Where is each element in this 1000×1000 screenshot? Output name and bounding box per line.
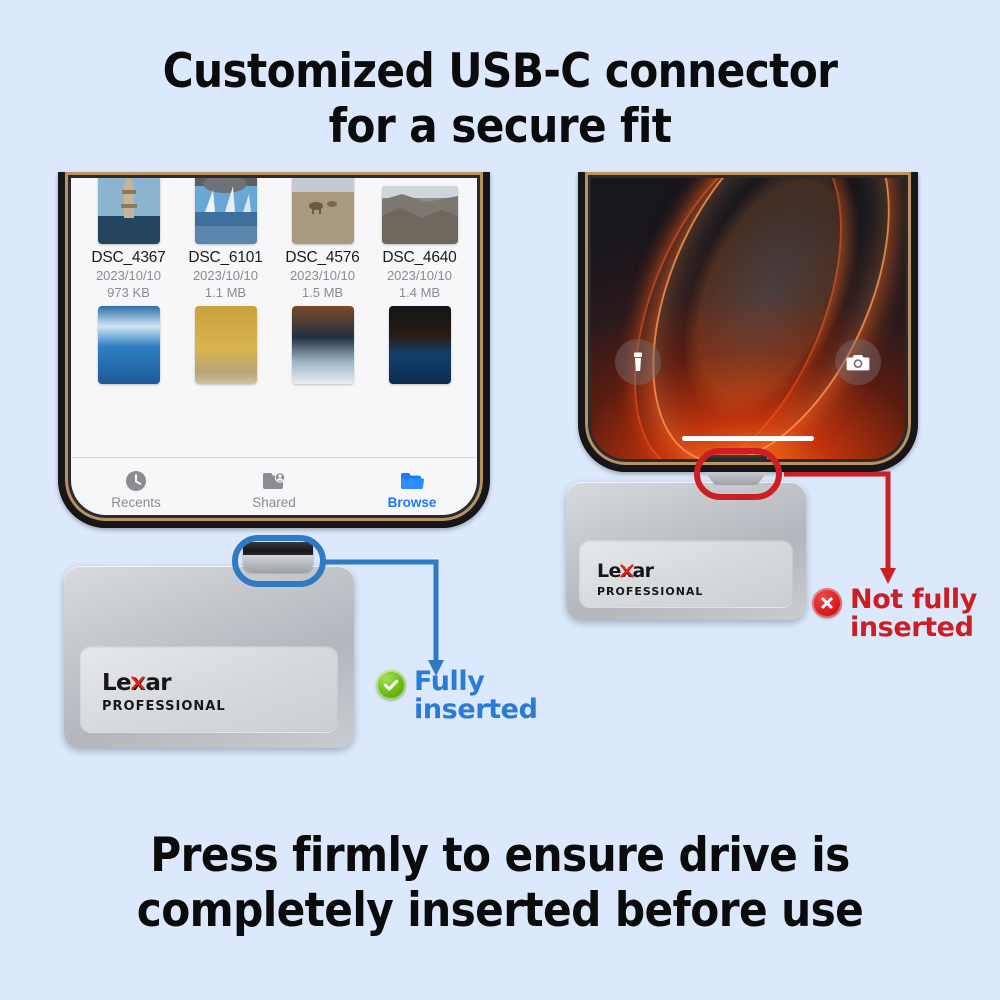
flashlight-icon [628, 351, 648, 373]
brand-name: Lexar [597, 562, 703, 581]
file-size: 1.5 MB [275, 284, 370, 301]
tab-shared[interactable]: Shared [205, 468, 343, 510]
tab-recents[interactable]: Recents [67, 468, 205, 510]
brand-name: Lexar [102, 672, 226, 695]
clock-icon [67, 468, 205, 494]
list-item[interactable]: DSC_4367 2023/10/10 973 KB [81, 172, 176, 302]
lexar-logo: Lexar PROFESSIONAL [102, 672, 226, 714]
callout-line-1: Not fully [850, 586, 977, 614]
file-size: 1.1 MB [178, 284, 273, 301]
thumb-art [98, 172, 160, 244]
thumb-art [195, 172, 257, 244]
file-name: DSC_4576 [275, 249, 370, 267]
callout-arrow-fully-inserted [318, 556, 458, 682]
camera-icon [846, 352, 870, 372]
tab-label: Recents [67, 495, 205, 510]
file-date: 2023/10/10 [81, 267, 176, 284]
headline-line-1: Customized USB-C connector [50, 44, 950, 99]
phone-right-screen [587, 172, 909, 463]
thumbnail-blue-ocean [98, 306, 160, 384]
lexar-logo: Lexar PROFESSIONAL [597, 562, 703, 598]
file-grid: 2023/10/10 973 KB 2023/10/10 1.1 MB 2023… [67, 172, 481, 389]
thumb-art [292, 172, 354, 244]
files-app: 2023/10/10 973 KB 2023/10/10 1.1 MB 2023… [67, 172, 481, 519]
file-name: DSC_6101 [178, 249, 273, 267]
lexar-x-mark: x [621, 560, 633, 582]
ssd-label-panel: Lexar PROFESSIONAL [579, 540, 793, 607]
headline-line-2: for a secure fit [50, 99, 950, 154]
callout-arrow-not-fully-inserted [782, 468, 910, 590]
files-tab-bar: Recents Shared [67, 457, 481, 519]
list-item[interactable]: DSC_4576 2023/10/10 1.5 MB [275, 172, 370, 302]
camera-button[interactable] [835, 339, 881, 385]
infographic-canvas: Customized USB-C connector for a secure … [0, 0, 1000, 1000]
list-item[interactable] [178, 306, 273, 389]
thumbnail-night-lake [292, 306, 354, 384]
footer-line-1: Press firmly to ensure drive is [50, 828, 950, 883]
phone-left: 2023/10/10 973 KB 2023/10/10 1.1 MB 2023… [58, 172, 490, 528]
phone-left-screen: 2023/10/10 973 KB 2023/10/10 1.1 MB 2023… [67, 172, 481, 519]
folder-icon [343, 468, 481, 494]
lexar-ssd-left: Lexar PROFESSIONAL [64, 566, 354, 748]
tab-label: Shared [205, 495, 343, 510]
highlight-ring-fully-inserted [232, 535, 326, 587]
callout-not-fully-inserted: Not fully inserted [812, 586, 977, 643]
callout-text: Fully inserted [414, 668, 538, 725]
page-footer: Press firmly to ensure drive is complete… [50, 828, 950, 938]
list-item[interactable] [81, 306, 176, 389]
thumbnail-rocky-terrain [382, 186, 458, 244]
highlight-ring-not-fully-inserted [694, 448, 782, 500]
flashlight-button[interactable] [615, 339, 661, 385]
phone-right [578, 172, 918, 472]
list-item[interactable] [275, 306, 370, 389]
file-date: 2023/10/10 [372, 267, 467, 284]
page-headline: Customized USB-C connector for a secure … [50, 44, 950, 154]
brand-subtitle: PROFESSIONAL [102, 699, 226, 714]
ssd-label-panel: Lexar PROFESSIONAL [80, 646, 338, 732]
tab-browse[interactable]: Browse [343, 468, 481, 510]
lock-screen-wallpaper [587, 172, 909, 463]
list-item[interactable]: DSC_4640 2023/10/10 1.4 MB [372, 172, 467, 302]
lexar-ssd-right: Lexar PROFESSIONAL [566, 482, 806, 620]
file-size: 973 KB [81, 284, 176, 301]
check-circle-icon [376, 670, 406, 700]
callout-line-1: Fully [414, 668, 538, 696]
lexar-x-mark: x [131, 670, 145, 696]
callout-fully-inserted: Fully inserted [376, 668, 538, 725]
thumbnail-sailboats-harbor [195, 172, 257, 244]
thumbnail-desert-camels [292, 172, 354, 244]
shared-folder-icon [205, 468, 343, 494]
x-circle-icon [812, 588, 842, 618]
list-item[interactable] [372, 306, 467, 389]
thumbnail-dark-coast [389, 306, 451, 384]
file-date: 2023/10/10 [178, 267, 273, 284]
callout-line-2: inserted [850, 614, 977, 642]
list-item[interactable]: DSC_6101 2023/10/10 1.1 MB [178, 172, 273, 302]
file-date: 2023/10/10 [275, 267, 370, 284]
home-indicator [682, 436, 814, 442]
tab-label: Browse [343, 495, 481, 510]
footer-line-2: completely inserted before use [50, 883, 950, 938]
thumb-art [382, 186, 458, 244]
thumbnail-golden-field [195, 306, 257, 384]
callout-text: Not fully inserted [850, 586, 977, 643]
file-name: DSC_4640 [372, 249, 467, 267]
brand-subtitle: PROFESSIONAL [597, 585, 703, 598]
thumbnail-minaret-tower [98, 172, 160, 244]
callout-line-2: inserted [414, 696, 538, 724]
file-name: DSC_4367 [81, 249, 176, 267]
file-size: 1.4 MB [372, 284, 467, 301]
